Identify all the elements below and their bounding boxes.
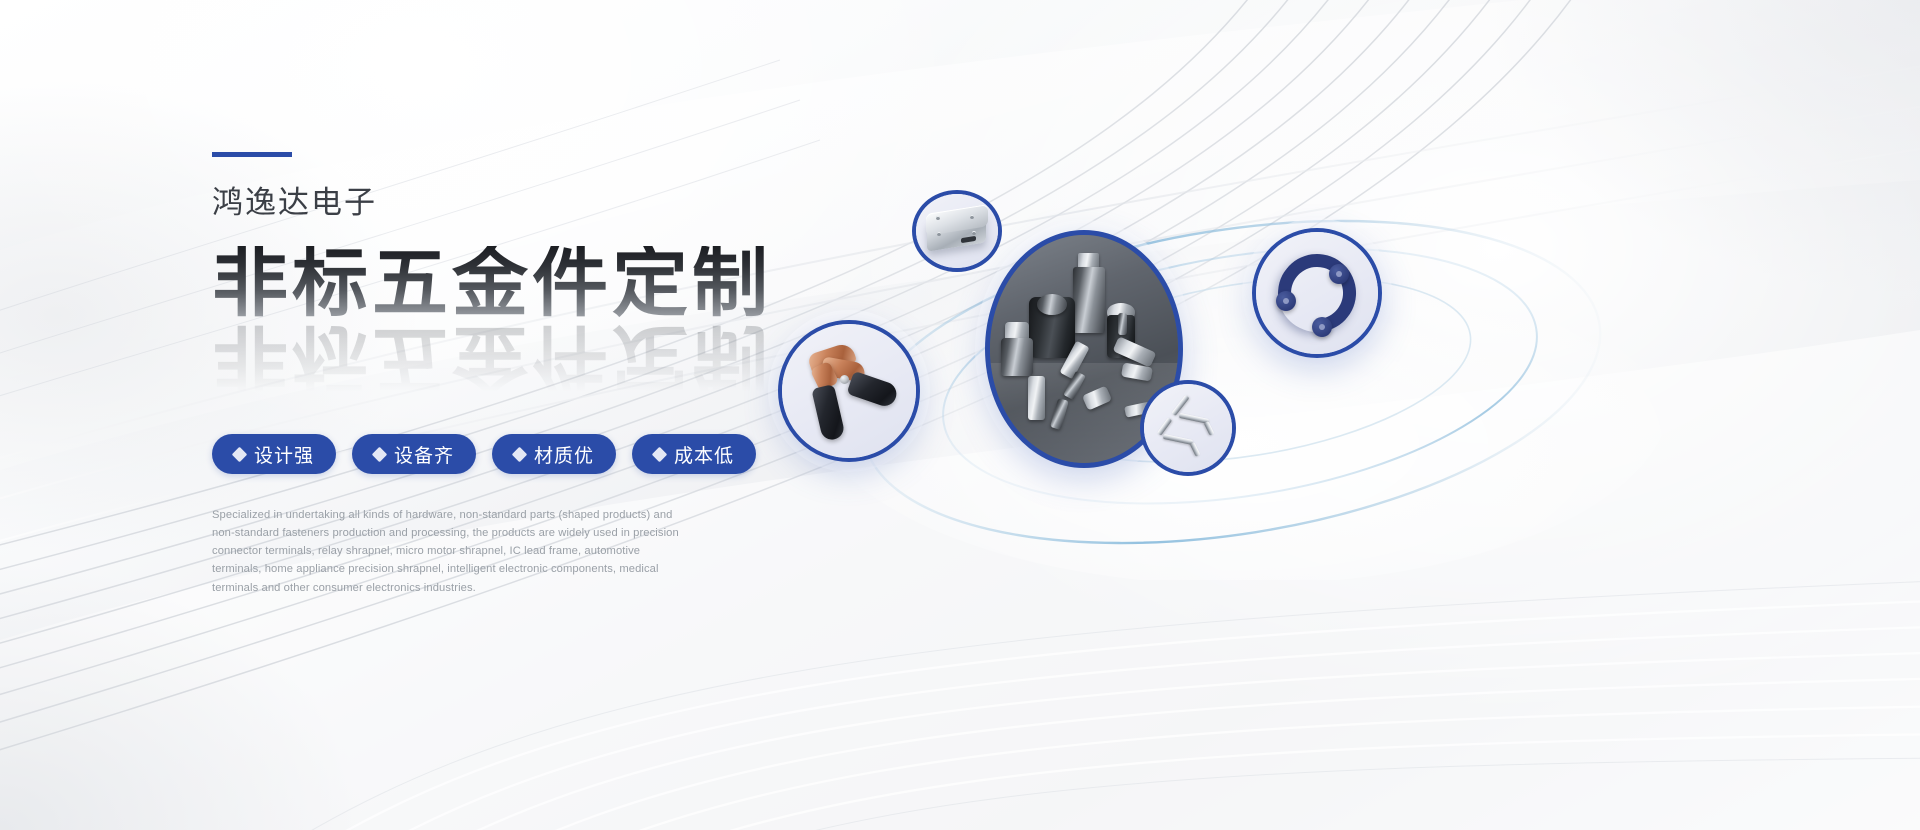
feature-badge-label: 设备齐: [394, 441, 454, 468]
product-showcase: [740, 130, 1740, 580]
description-text: Specialized in undertaking all kinds of …: [212, 506, 682, 597]
feature-badge-cost[interactable]: 成本低: [632, 434, 756, 474]
diamond-icon: [652, 446, 668, 462]
feature-badge-material[interactable]: 材质优: [492, 434, 616, 474]
bubble-image-battery-clamp: [782, 324, 916, 458]
bubble-wire-terminals[interactable]: [1140, 380, 1236, 476]
feature-badge-design[interactable]: 设计强: [212, 434, 336, 474]
diamond-icon: [512, 446, 528, 462]
bubble-image-metal-enclosure: [916, 194, 998, 268]
bubble-retaining-ring[interactable]: [1252, 228, 1382, 358]
diamond-icon: [372, 446, 388, 462]
bubble-battery-clamp[interactable]: [778, 320, 920, 462]
diamond-icon: [232, 446, 248, 462]
headline-reflection: 非标五金件定制: [212, 320, 772, 396]
feature-badge-label: 设计强: [254, 441, 314, 468]
bubble-image-wire-terminals: [1144, 384, 1232, 472]
feature-badge-label: 成本低: [674, 441, 734, 468]
feature-badge-label: 材质优: [534, 441, 594, 468]
accent-rule: [212, 152, 292, 157]
hero-banner: 鸿逸达电子 非标五金件定制 非标五金件定制 设计强 设备齐 材质优 成本低: [0, 0, 1920, 830]
bubble-image-retaining-ring: [1256, 232, 1378, 354]
feature-badge-equipment[interactable]: 设备齐: [352, 434, 476, 474]
bubble-metal-enclosure[interactable]: [912, 190, 1002, 272]
